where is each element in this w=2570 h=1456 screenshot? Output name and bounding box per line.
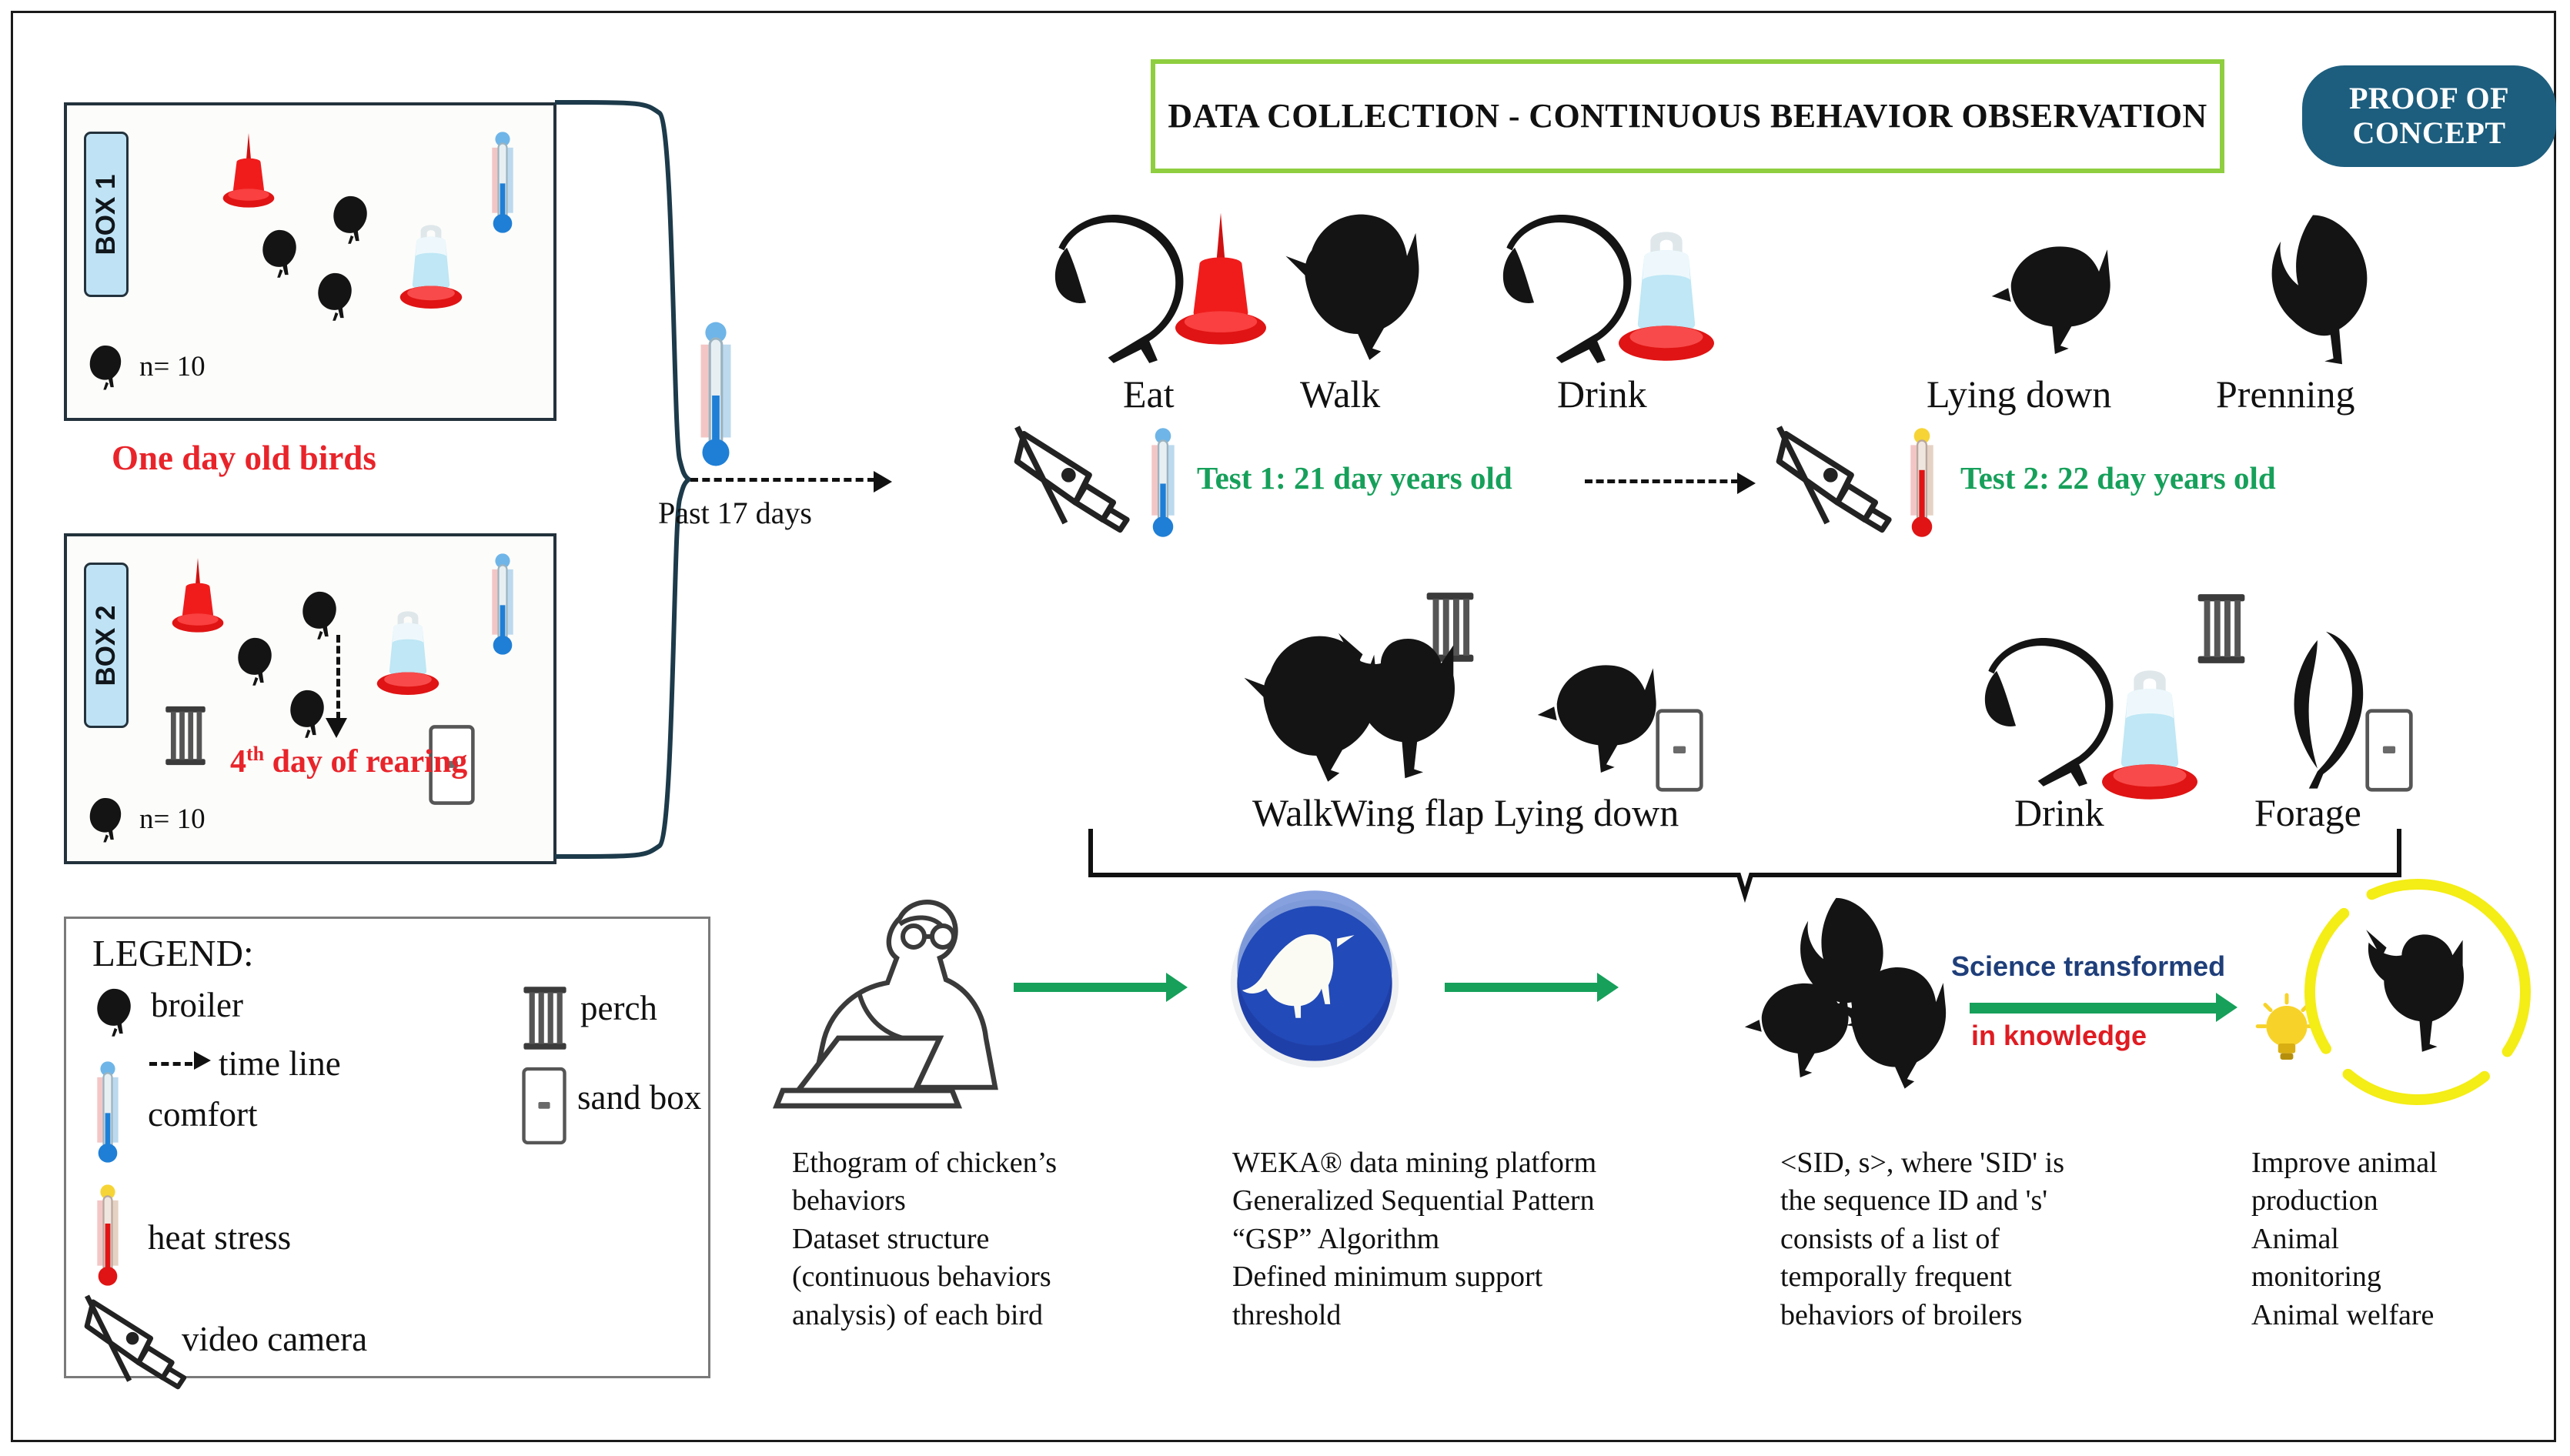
hen-lying-down — [1983, 219, 2137, 373]
one-day-old-caption: One day old birds — [112, 438, 376, 478]
box-2-count: n= 10 — [139, 803, 206, 836]
broiler-silhouette — [284, 683, 329, 744]
pen-box-2: BOX 2 4th day of rearing n= 10 — [64, 533, 556, 864]
hen-wing-flapping — [1323, 621, 1481, 790]
video-camera-icon — [1776, 422, 1896, 538]
figure-title: DATA COLLECTION - CONTINUOUS BEHAVIOR OB… — [1168, 96, 2207, 136]
video-camera-icon — [83, 1293, 191, 1393]
proof-of-concept-label: PROOF OF CONCEPT — [2302, 82, 2556, 151]
thermometer-heat-icon — [88, 1177, 128, 1293]
legend-label-video-camera: video camera — [182, 1319, 367, 1359]
workflow-arrow-1 — [1014, 983, 1168, 992]
weka-logo-icon — [1226, 895, 1403, 1072]
video-camera-icon — [1014, 422, 1134, 538]
sandbox-icon — [522, 1065, 566, 1147]
test-1-label: Test 1: 21 day years old — [1197, 459, 1512, 496]
behavior-label-eat: Eat — [1123, 372, 1175, 416]
box-2-tag: BOX 2 — [84, 563, 129, 728]
hen-preening — [2254, 205, 2401, 371]
perch-icon — [522, 977, 568, 1059]
hen-eating — [1051, 215, 1193, 369]
legend-timeline-arrowhead — [194, 1051, 211, 1070]
test-transition-arrow — [1585, 479, 1739, 483]
legend-label-time-line: time line — [219, 1044, 341, 1084]
box-1-label: BOX 1 — [91, 174, 122, 255]
box-2-inner-timeline — [336, 635, 340, 720]
pen-box-1: BOX 1 n= 10 — [64, 102, 556, 421]
in-knowledge-label: in knowledge — [1971, 1020, 2147, 1052]
thermometer-blue-icon — [483, 129, 523, 236]
workflow-arrow-2 — [1445, 983, 1599, 992]
legend-timeline-dash — [149, 1062, 192, 1066]
sandbox-icon — [2365, 707, 2413, 793]
box-2-note-text: 4th day of rearing — [230, 744, 467, 780]
red-feeder — [218, 133, 279, 210]
workflow-step-4-text: Improve animal production Animal monitor… — [2251, 1144, 2559, 1334]
red-feeder — [1175, 196, 1266, 366]
thermometer-blue-icon — [483, 550, 523, 658]
broiler-silhouette — [312, 265, 356, 327]
legend-title: LEGEND: — [92, 931, 254, 975]
box-1-count: n= 10 — [139, 350, 206, 383]
box-1-tag: BOX 1 — [84, 132, 129, 297]
broiler-silhouette-icon — [91, 980, 135, 1044]
figure-title-box: DATA COLLECTION - CONTINUOUS BEHAVIOR OB… — [1151, 59, 2224, 173]
blue-drinker — [2102, 661, 2197, 807]
figure-border: BOX 1 n= 10 One day old birds BOX 2 4th … — [11, 11, 2556, 1442]
legend-label-sand-box: sand box — [577, 1077, 701, 1117]
timeline-label: Past 17 days — [658, 495, 812, 531]
workflow-step-3-text: <SID, s>, where 'SID' is the sequence ID… — [1780, 1144, 2211, 1334]
behavior-label-lying-down: Lying down — [1927, 372, 2111, 416]
knowledge-arrow — [1970, 1003, 2217, 1014]
broiler-silhouette — [84, 338, 125, 396]
box-2-note: 4th day of rearing — [230, 743, 467, 780]
broiler-silhouette — [84, 790, 125, 849]
broiler-silhouette — [296, 584, 341, 646]
broiler-silhouette — [232, 630, 276, 692]
blue-drinker — [1619, 222, 1714, 369]
timeline-arrow — [690, 478, 875, 482]
observation-bracket — [1088, 829, 2404, 898]
legend-box: LEGEND: broiler time line comfort heat s… — [64, 917, 710, 1378]
rooster-silhouette-icon — [2356, 912, 2483, 1070]
legend-label-perch: perch — [580, 988, 657, 1028]
perch-icon — [2196, 583, 2247, 675]
box-2-label: BOX 2 — [91, 605, 122, 686]
thermometer-heat-icon — [1900, 421, 1943, 544]
researcher-icon — [767, 890, 1014, 1121]
broiler-silhouette — [327, 189, 372, 250]
proof-of-concept-badge: PROOF OF CONCEPT — [2302, 65, 2556, 167]
blue-drinker — [398, 221, 464, 312]
sandbox-icon — [1656, 707, 1703, 793]
science-transformed-label: Science transformed — [1951, 950, 2225, 983]
workflow-step-1-text: Ethogram of chicken’s behaviors Dataset … — [792, 1144, 1238, 1334]
thermometer-comfort-icon — [687, 313, 744, 475]
behavior-label-walk: Walk — [1300, 372, 1380, 416]
broiler-silhouette — [256, 222, 301, 284]
broiler-flock-icon — [1831, 961, 1954, 1096]
legend-label-comfort: comfort — [148, 1094, 257, 1134]
thermometer-comfort-icon — [88, 1054, 128, 1170]
test-2-label: Test 2: 22 day years old — [1960, 459, 2276, 496]
legend-label-heat-stress: heat stress — [148, 1217, 291, 1257]
figure-canvas: BOX 1 n= 10 One day old birds BOX 2 4th … — [0, 0, 2570, 1456]
box-2-inner-timeline-arrow — [326, 718, 347, 738]
perch-icon — [164, 698, 207, 773]
behavior-label-prenning: Prenning — [2216, 372, 2355, 416]
pens-brace — [552, 98, 690, 867]
workflow-step-2-text: WEKA® data mining platform Generalized S… — [1232, 1144, 1725, 1334]
legend-label-broiler: broiler — [151, 985, 243, 1025]
red-feeder — [167, 558, 229, 635]
blue-drinker — [375, 607, 441, 698]
behavior-label-drink: Drink — [1557, 372, 1647, 416]
thermometer-comfort-icon — [1141, 421, 1185, 544]
hen-walking — [1280, 207, 1430, 369]
